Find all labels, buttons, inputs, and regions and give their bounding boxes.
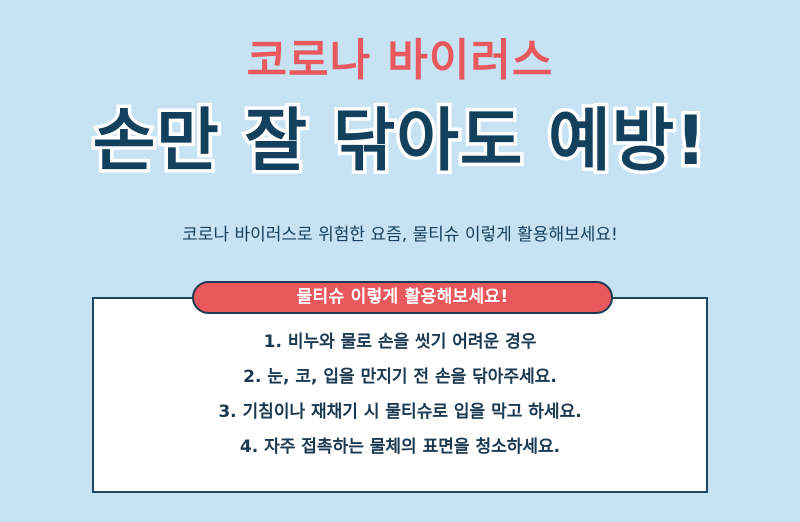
main-headline: 손만 잘 닦아도 예방! [93,104,708,180]
subtitle-container: 코로나 바이러스로 위험한 요즘, 물티슈 이렇게 활용해보세요! [0,224,800,248]
poster-canvas: 코로나 바이러스 손만 잘 닦아도 예방! 코로나 바이러스로 위험한 요즘, … [0,0,800,522]
tips-list: 1. 비누와 물로 손을 씻기 어려운 경우 2. 눈, 코, 입을 만지기 전… [92,334,708,456]
list-item: 4. 자주 접촉하는 물체의 표면을 청소하세요. [92,439,708,456]
list-item: 2. 눈, 코, 입을 만지기 전 손을 닦아주세요. [92,369,708,386]
subtitle-text: 코로나 바이러스로 위험한 요즘, 물티슈 이렇게 활용해보세요! [182,224,618,248]
eyebrow-title: 코로나 바이러스 [247,38,554,84]
eyebrow-title-container: 코로나 바이러스 [0,38,800,84]
tips-card-badge: 물티슈 이렇게 활용해보세요! [192,281,613,314]
tips-card-badge-label: 물티슈 이렇게 활용해보세요! [297,289,509,306]
list-item: 3. 기침이나 재채기 시 물티슈로 입을 막고 하세요. [92,404,708,421]
headline-container: 손만 잘 닦아도 예방! [0,104,800,180]
list-item: 1. 비누와 물로 손을 씻기 어려운 경우 [92,334,708,351]
